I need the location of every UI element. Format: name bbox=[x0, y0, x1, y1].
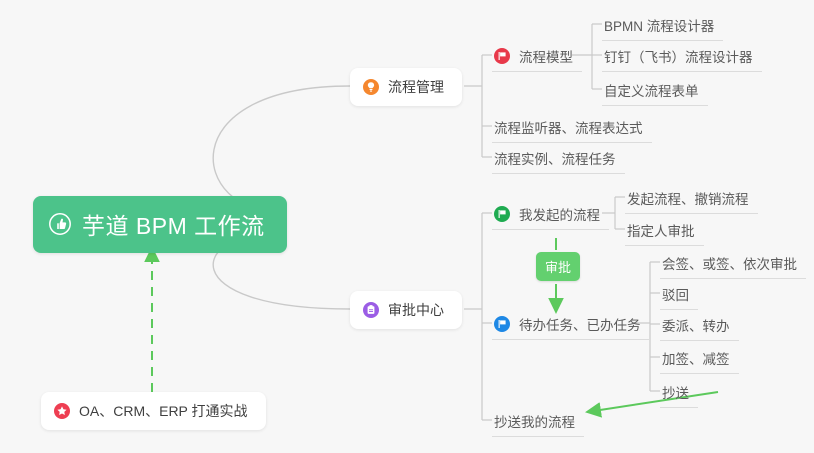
node-listener-expression-label: 流程监听器、流程表达式 bbox=[494, 117, 643, 137]
node-dingding-designer[interactable]: 钉钉（飞书）流程设计器 bbox=[602, 42, 762, 72]
arrow-chaosong-to-chaosongwode bbox=[587, 392, 718, 412]
node-jiaqian-jianqian-label: 加签、减签 bbox=[662, 348, 730, 368]
link-root-to-liuchengguanli bbox=[213, 86, 350, 213]
flag-circle-icon bbox=[494, 206, 510, 222]
node-bohui[interactable]: 驳回 bbox=[660, 280, 698, 310]
node-custom-form[interactable]: 自定义流程表单 bbox=[602, 76, 708, 106]
node-jiaqian-jianqian[interactable]: 加签、减签 bbox=[660, 344, 739, 374]
node-instance-task-label: 流程实例、流程任务 bbox=[494, 148, 616, 168]
star-circle-icon bbox=[54, 403, 70, 419]
branch-liuchengguanli[interactable]: 流程管理 bbox=[350, 68, 462, 106]
node-weipai-zhuanban[interactable]: 委派、转办 bbox=[660, 311, 739, 341]
node-huiqian-huoqian-label: 会签、或签、依次审批 bbox=[662, 253, 797, 273]
clipboard-circle-icon bbox=[363, 302, 379, 318]
badge-shenpi-label: 审批 bbox=[545, 260, 571, 275]
node-zhidingren-shenpi-label: 指定人审批 bbox=[627, 220, 695, 240]
root-label: 芋道 BPM 工作流 bbox=[82, 207, 265, 241]
node-dingding-designer-label: 钉钉（飞书）流程设计器 bbox=[604, 46, 753, 66]
node-liuchengmoxing[interactable]: 流程模型 bbox=[492, 42, 582, 72]
node-wofaqideliucheng-label: 我发起的流程 bbox=[519, 204, 600, 224]
node-chaosongwodeliucheng-label: 抄送我的流程 bbox=[494, 411, 575, 431]
mindmap-canvas: 芋道 BPM 工作流 流程管理 流程模型 BPMN 流程设计器 钉钉（飞书）流程 bbox=[0, 0, 814, 453]
flag-circle-icon bbox=[494, 316, 510, 332]
thumbs-up-circle-icon bbox=[49, 213, 71, 235]
node-liuchengmoxing-label: 流程模型 bbox=[519, 46, 573, 66]
node-weipai-zhuanban-label: 委派、转办 bbox=[662, 315, 730, 335]
node-bohui-label: 驳回 bbox=[662, 284, 689, 304]
node-wofaqideliucheng[interactable]: 我发起的流程 bbox=[492, 200, 609, 230]
node-chaosong[interactable]: 抄送 bbox=[660, 378, 698, 408]
callout-oa-crm-erp-label: OA、CRM、ERP 打通实战 bbox=[79, 401, 248, 421]
root-node[interactable]: 芋道 BPM 工作流 bbox=[33, 196, 287, 253]
node-bpmn-designer[interactable]: BPMN 流程设计器 bbox=[602, 11, 723, 41]
node-custom-form-label: 自定义流程表单 bbox=[604, 80, 699, 100]
node-daiban-yiban[interactable]: 待办任务、已办任务 bbox=[492, 310, 650, 340]
node-daiban-yiban-label: 待办任务、已办任务 bbox=[519, 314, 641, 334]
node-zhidingren-shenpi[interactable]: 指定人审批 bbox=[625, 216, 704, 246]
node-chaosongwodeliucheng[interactable]: 抄送我的流程 bbox=[492, 407, 584, 437]
flag-circle-icon bbox=[494, 48, 510, 64]
node-faqi-chexiao[interactable]: 发起流程、撤销流程 bbox=[625, 184, 758, 214]
node-bpmn-designer-label: BPMN 流程设计器 bbox=[604, 15, 714, 35]
branch-liuchengguanli-label: 流程管理 bbox=[388, 77, 444, 97]
badge-shenpi[interactable]: 审批 bbox=[536, 252, 580, 281]
node-listener-expression[interactable]: 流程监听器、流程表达式 bbox=[492, 113, 652, 143]
node-chaosong-label: 抄送 bbox=[662, 382, 689, 402]
node-huiqian-huoqian[interactable]: 会签、或签、依次审批 bbox=[660, 249, 806, 279]
branch-shenpizhongxin-label: 审批中心 bbox=[388, 300, 444, 320]
node-instance-task[interactable]: 流程实例、流程任务 bbox=[492, 144, 625, 174]
lightbulb-circle-icon bbox=[363, 79, 379, 95]
branch-shenpizhongxin[interactable]: 审批中心 bbox=[350, 291, 462, 329]
callout-oa-crm-erp[interactable]: OA、CRM、ERP 打通实战 bbox=[41, 392, 266, 430]
node-faqi-chexiao-label: 发起流程、撤销流程 bbox=[627, 188, 749, 208]
